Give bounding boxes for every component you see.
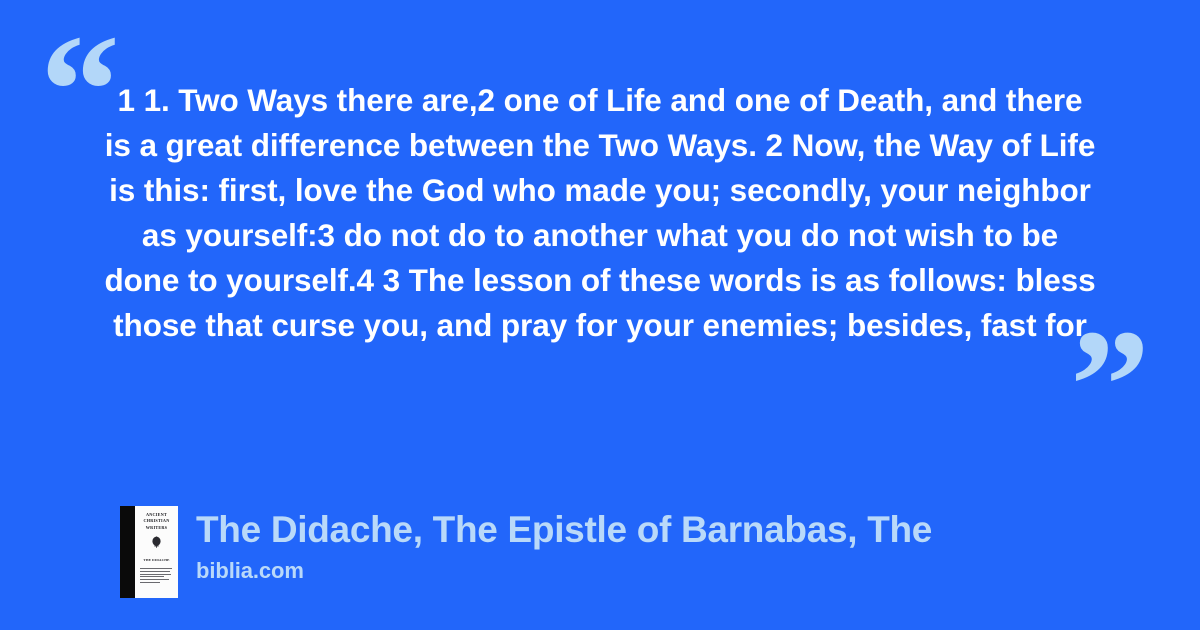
- attribution-text-block: The Didache, The Epistle of Barnabas, Th…: [196, 506, 932, 584]
- close-quote-icon: ”: [1070, 305, 1150, 465]
- book-spine: [120, 506, 135, 598]
- quote-card: “ 1 1. Two Ways there are,2 one of Life …: [0, 0, 1200, 630]
- book-cover-thumbnail: ANCIENT CHRISTIAN WRITERS THE DIDACHE: [120, 506, 178, 598]
- book-series-line-3: WRITERS: [146, 525, 168, 531]
- source-title: The Didache, The Epistle of Barnabas, Th…: [196, 508, 932, 552]
- publisher-emblem-icon: [151, 535, 162, 553]
- attribution-footer: ANCIENT CHRISTIAN WRITERS THE DIDACHE: [120, 506, 932, 598]
- quote-text: 1 1. Two Ways there are,2 one of Life an…: [104, 78, 1096, 348]
- book-front-face: ANCIENT CHRISTIAN WRITERS THE DIDACHE: [135, 506, 178, 598]
- book-title-line: THE DIDACHE: [143, 558, 169, 563]
- source-site: biblia.com: [196, 558, 932, 584]
- book-blurb-lines: [138, 568, 175, 583]
